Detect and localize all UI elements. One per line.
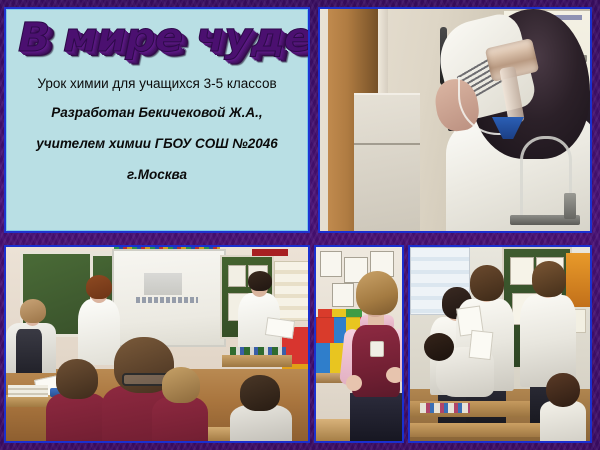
photo-girl-lego — [314, 245, 404, 443]
demo-table — [222, 355, 292, 367]
presenter-hair — [248, 271, 272, 291]
child-shirt — [540, 401, 586, 441]
projected-title-text — [136, 297, 198, 303]
photo-girl-lego-content — [316, 247, 402, 441]
girl-hair — [356, 271, 398, 315]
student-head — [56, 359, 98, 399]
title-panel: В мире чудес Урок химии для учащихся 3-5… — [4, 7, 310, 233]
assistant-vest — [16, 329, 42, 373]
subtitle-line-4: г.Москва — [16, 166, 298, 183]
photo-classroom-wide — [4, 245, 310, 443]
student-hair — [532, 261, 566, 297]
girl-hand-left — [346, 375, 362, 391]
schoolgirl-figure — [344, 271, 402, 441]
girl-hand-right — [386, 367, 402, 383]
projected-image — [144, 273, 182, 295]
subtitle-line-3: учителем химии ГБОУ СОШ №2046 — [16, 135, 298, 152]
subtitle-line-2: Разработан Бекичековой Ж.А., — [16, 104, 298, 121]
child-head — [546, 373, 580, 407]
presentation-slide: В мире чудес Урок химии для учащихся 3-5… — [0, 0, 600, 450]
photo-students-labcoats — [408, 245, 592, 443]
lab-items-on-desk — [420, 403, 470, 413]
teacher-hair — [86, 275, 112, 299]
subtitle-block: Урок химии для учащихся 3-5 классов Разр… — [12, 75, 302, 183]
student-presenter — [236, 271, 282, 357]
girl-skirt — [350, 393, 402, 441]
student-head — [162, 367, 200, 403]
projection-screen-classroom — [112, 249, 226, 347]
school-emblem-badge — [370, 341, 384, 357]
bending-student-head — [424, 333, 454, 361]
stack-of-books — [8, 385, 48, 397]
student-foreground-3 — [152, 367, 208, 441]
red-wall-banner — [252, 249, 288, 256]
title-panel-inner: В мире чудес Урок химии для учащихся 3-5… — [6, 9, 308, 231]
student-uniform-vest — [46, 393, 108, 441]
student-hair — [470, 265, 504, 301]
framed-certificate-1 — [320, 251, 342, 277]
assistant-hair — [20, 299, 46, 323]
page-title: В мире чудес — [18, 15, 310, 61]
student-uniform-vest — [152, 397, 208, 441]
photo-classroom-content — [6, 247, 308, 441]
student-foreground-4 — [230, 375, 292, 441]
seated-child — [540, 373, 588, 441]
student-head — [240, 375, 280, 411]
held-paper-2 — [469, 330, 494, 360]
lab-desk-front — [410, 423, 560, 437]
student-foreground-1 — [46, 359, 108, 441]
presenter-paper — [265, 317, 295, 339]
subtitle-line-1: Урок химии для учащихся 3-5 классов — [16, 75, 298, 92]
photo-teacher-flask — [318, 7, 592, 233]
lab-clamp-post — [564, 193, 576, 219]
photo-teacher-flask-content — [320, 9, 590, 231]
lab-cabinet — [354, 93, 420, 231]
photo-students-labcoats-content — [410, 247, 590, 441]
